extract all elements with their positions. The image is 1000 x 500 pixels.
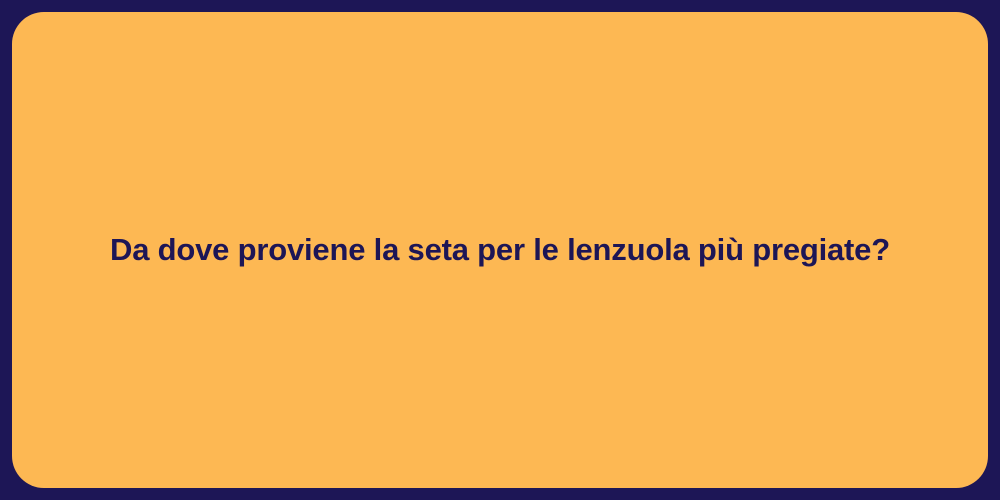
content-card: Da dove proviene la seta per le lenzuola… [12,12,988,488]
page-background: Da dove proviene la seta per le lenzuola… [0,0,1000,500]
page-title: Da dove proviene la seta per le lenzuola… [110,230,890,270]
